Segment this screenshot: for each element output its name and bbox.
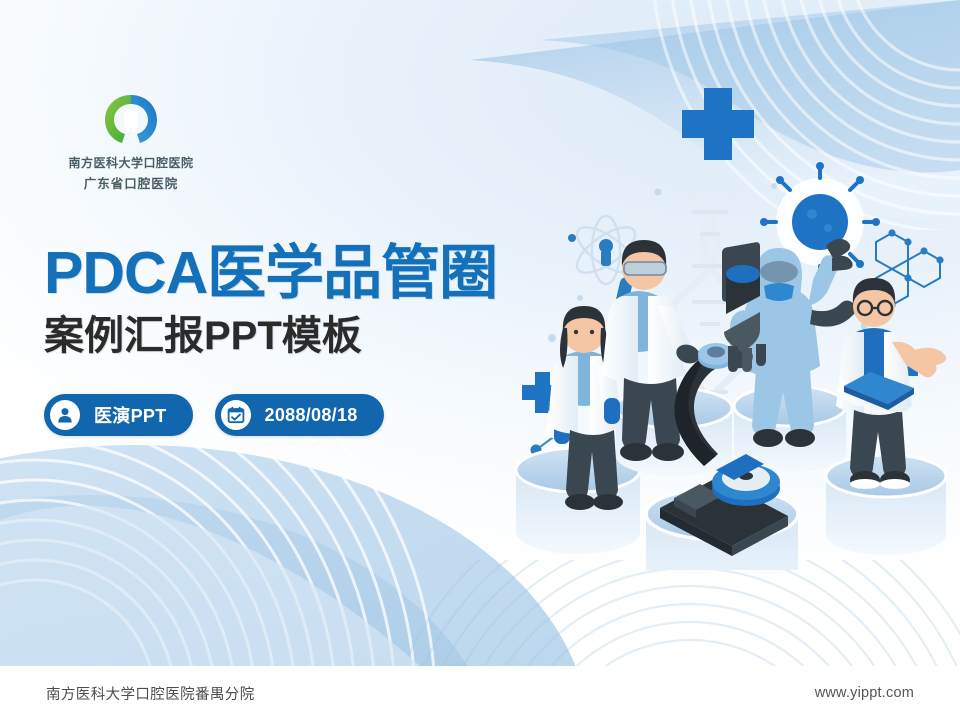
hexagon-nodes xyxy=(888,229,943,308)
hospital-logo: 南方医科大学口腔医院 广东省口腔医院 xyxy=(46,88,216,192)
tooth-ring-logo-icon xyxy=(94,88,168,150)
calendar-icon xyxy=(221,400,251,430)
logo-line-2: 广东省口腔医院 xyxy=(46,173,216,192)
footer-website[interactable]: www.yippt.com xyxy=(815,685,914,701)
date-label: 2088/08/18 xyxy=(265,405,358,426)
slide-footer: 南方医科大学口腔医院番禺分院 www.yippt.com xyxy=(0,666,960,720)
medical-research-team-illustration xyxy=(508,70,960,570)
page-subtitle: 案例汇报PPT模板 xyxy=(44,315,362,357)
date-badge[interactable]: 2088/08/18 xyxy=(215,394,384,436)
page-title: PDCA医学品管圈 xyxy=(44,243,497,303)
user-icon xyxy=(50,400,80,430)
footer-organization: 南方医科大学口腔医院番禺分院 xyxy=(46,683,255,704)
meta-badges: 医演PPT 2088/08/18 xyxy=(44,394,384,436)
logo-line-1: 南方医科大学口腔医院 xyxy=(46,154,216,171)
author-label: 医演PPT xyxy=(94,402,167,428)
presentation-slide: 南方医科大学口腔医院 广东省口腔医院 PDCA医学品管圈 案例汇报PPT模板 医… xyxy=(0,0,960,720)
author-badge[interactable]: 医演PPT xyxy=(44,394,193,436)
medical-cross-large xyxy=(682,88,754,160)
